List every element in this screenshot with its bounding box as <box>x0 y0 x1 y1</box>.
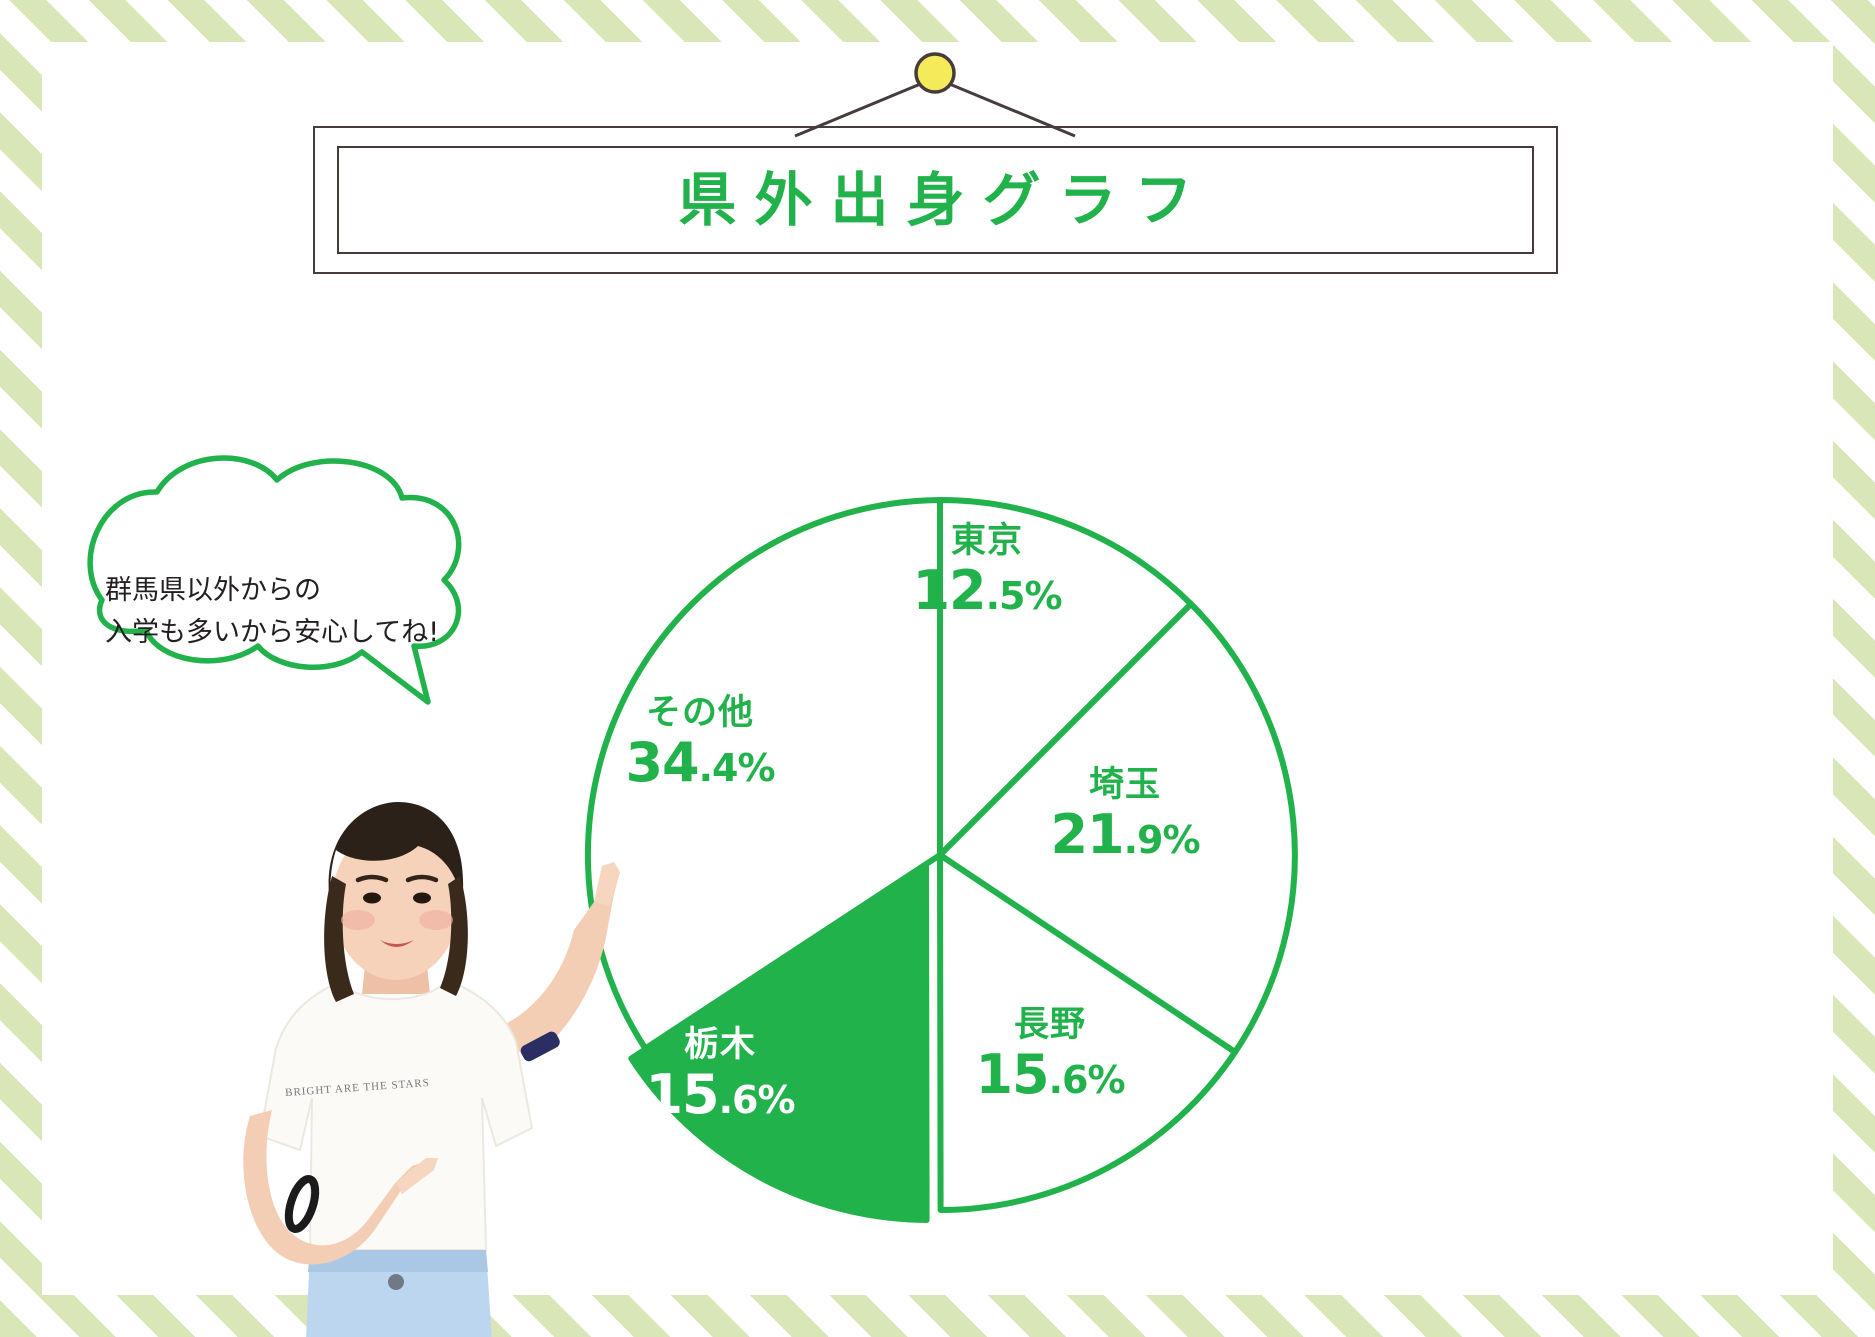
pie-label-saitama-name: 埼玉 <box>1005 768 1245 803</box>
sign-hanger <box>760 48 1110 140</box>
pie-label-tokyo-name: 東京 <box>867 524 1107 559</box>
pie-label-saitama: 埼玉 21.9% <box>1005 768 1245 862</box>
hanger-dot-icon <box>916 54 954 92</box>
title-sign: 県外出身グラフ <box>313 126 1558 274</box>
eye-left <box>363 893 381 904</box>
pointing-finger-icon <box>594 862 620 906</box>
pie-label-other-name: その他 <box>580 696 820 731</box>
page-title: 県外出身グラフ <box>660 171 1210 229</box>
student-photo <box>190 780 650 1337</box>
sign-inner-frame: 県外出身グラフ <box>337 146 1534 254</box>
speech-bubble-text: 群馬県以外からの 入学も多いから安心してね! <box>105 570 465 654</box>
cheek-right <box>419 910 453 930</box>
pie-label-nagano-name: 長野 <box>930 1008 1170 1043</box>
pie-label-nagano-value: 15.6% <box>930 1048 1170 1102</box>
cheek-left <box>341 910 375 930</box>
pie-label-other: その他 34.4% <box>580 696 820 790</box>
speech-bubble-line-2: 入学も多いから安心してね! <box>105 612 465 654</box>
tshirt <box>260 980 532 1250</box>
pie-label-tokyo: 東京 12.5% <box>867 524 1107 618</box>
pie-label-nagano: 長野 15.6% <box>930 1008 1170 1102</box>
pie-label-tokyo-value: 12.5% <box>867 564 1107 618</box>
speech-bubble-line-1: 群馬県以外からの <box>105 570 465 612</box>
poster-canvas: 県外出身グラフ 東京 12.5% 埼玉 21.9% 長野 15.6% 栃木 15… <box>0 0 1875 1337</box>
eye-right <box>413 893 431 904</box>
jeans-button <box>388 1274 404 1290</box>
pie-label-saitama-value: 21.9% <box>1005 808 1245 862</box>
